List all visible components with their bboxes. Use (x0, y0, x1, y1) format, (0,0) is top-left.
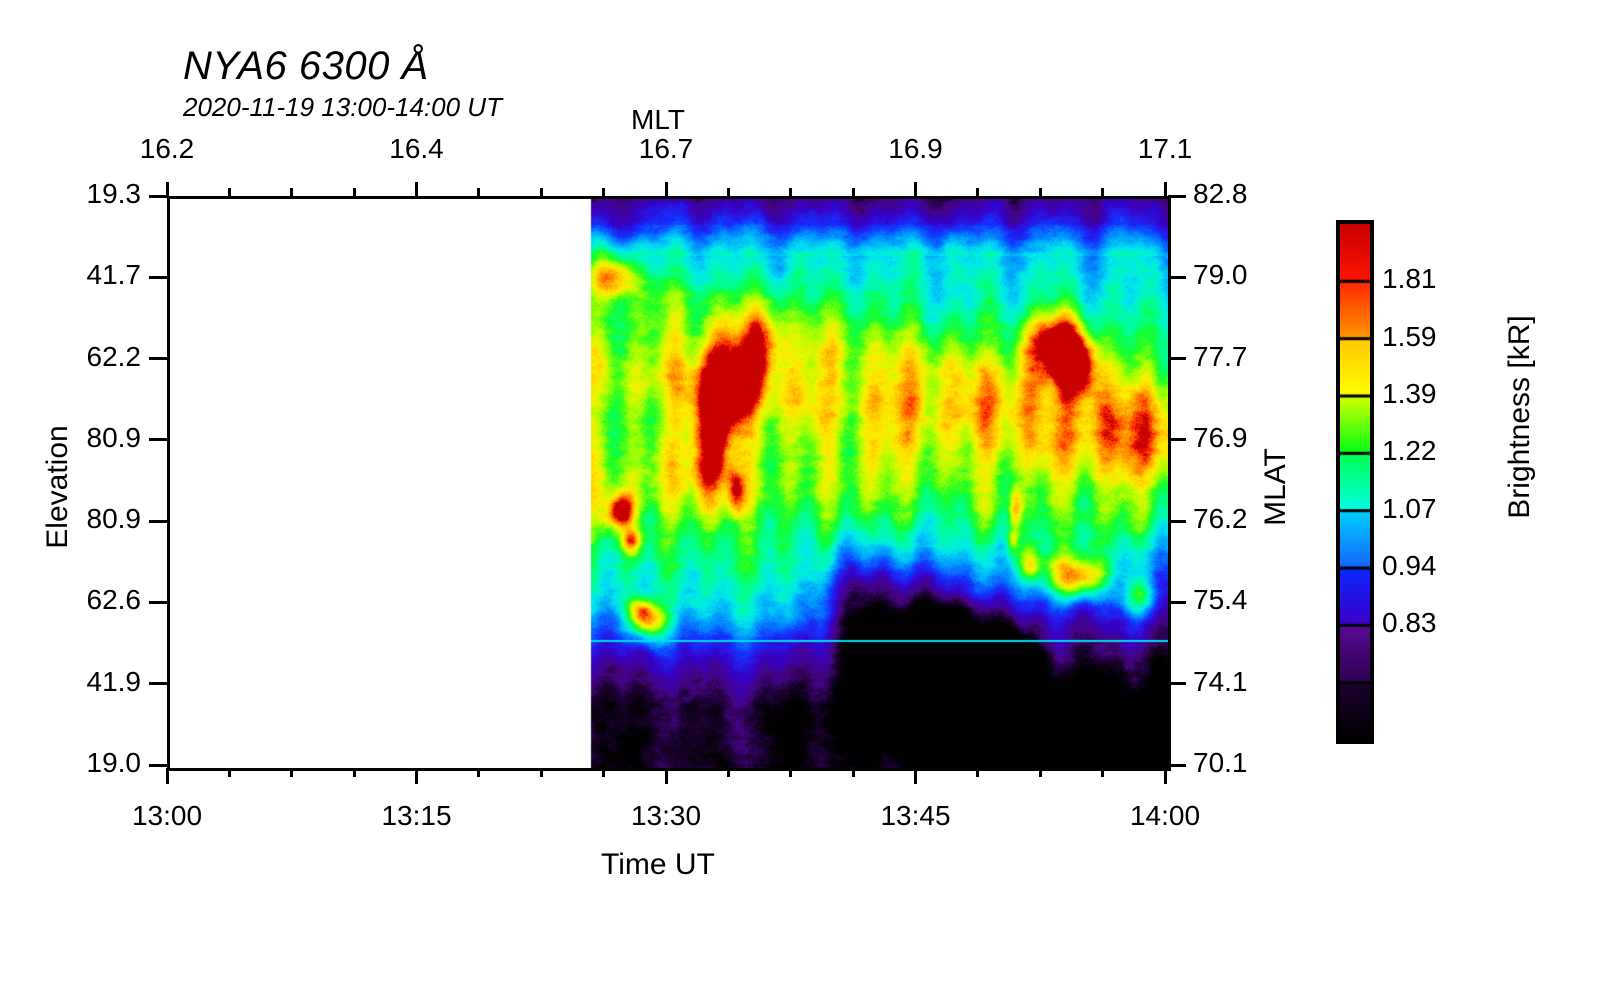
time-tick-label: 13:00 (97, 800, 237, 832)
keogram-image (170, 199, 1168, 768)
mlat-tick-mark (1168, 438, 1186, 441)
mlt-minor-tick (290, 188, 293, 196)
mlat-tick-mark (1168, 520, 1186, 523)
mlat-tick-label: 82.8 (1193, 178, 1293, 210)
mlt-minor-tick (540, 188, 543, 196)
elevation-tick-mark (149, 601, 167, 604)
time-axis-title: Time UT (601, 848, 715, 882)
mlat-tick-label: 79.0 (1193, 259, 1293, 291)
time-minor-tick (353, 768, 356, 777)
time-minor-tick (602, 768, 605, 777)
elevation-tick-label: 19.0 (65, 747, 141, 779)
mlat-tick-label: 75.4 (1193, 584, 1293, 616)
colorbar-tick-label: 1.22 (1382, 435, 1437, 467)
mlat-tick-mark (1168, 357, 1186, 360)
colorbar-gradient (1340, 224, 1370, 740)
time-tick-label: 13:30 (596, 800, 736, 832)
time-minor-tick (727, 768, 730, 777)
time-minor-tick (1101, 768, 1104, 777)
mlt-minor-tick (1039, 188, 1042, 196)
colorbar-tick-label: 0.94 (1382, 550, 1437, 582)
elevation-tick-label: 80.9 (65, 422, 141, 454)
elevation-tick-mark (149, 682, 167, 685)
time-minor-tick (976, 768, 979, 777)
mlat-tick-mark (1168, 682, 1186, 685)
time-minor-tick (540, 768, 543, 777)
keogram-plot-area[interactable] (167, 196, 1171, 771)
mlt-minor-tick (1101, 188, 1104, 196)
mlt-minor-tick (852, 188, 855, 196)
time-minor-tick (789, 768, 792, 777)
mlt-minor-tick (789, 188, 792, 196)
colorbar-tick-label: 1.39 (1382, 378, 1437, 410)
time-tick-label: 13:15 (347, 800, 487, 832)
colorbar-tick-label: 1.81 (1382, 263, 1437, 295)
mlat-tick-mark (1168, 276, 1186, 279)
mlt-minor-tick (353, 188, 356, 196)
time-tick-mark (166, 768, 169, 784)
mlt-minor-tick (477, 188, 480, 196)
mlat-tick-label: 77.7 (1193, 341, 1293, 373)
time-tick-label: 13:45 (846, 800, 986, 832)
mlat-tick-mark (1168, 764, 1186, 767)
elevation-tick-mark (149, 764, 167, 767)
time-minor-tick (1039, 768, 1042, 777)
elevation-tick-mark (149, 276, 167, 279)
page-subtitle: 2020-11-19 13:00-14:00 UT (183, 92, 502, 123)
page-title: NYA6 6300 Å (183, 44, 429, 89)
elevation-tick-mark (149, 520, 167, 523)
mlt-tick-label: 16.9 (876, 133, 956, 165)
mlt-axis-title: MLT (631, 104, 685, 136)
mlt-tick-mark (415, 182, 418, 196)
time-tick-mark (1164, 768, 1167, 784)
elevation-axis-title: Elevation (41, 407, 75, 567)
colorbar[interactable] (1336, 220, 1374, 744)
mlat-tick-mark (1168, 601, 1186, 604)
mlat-tick-label: 70.1 (1193, 747, 1293, 779)
elevation-tick-mark (149, 195, 167, 198)
colorbar-tick-label: 1.07 (1382, 493, 1437, 525)
time-tick-mark (415, 768, 418, 784)
elevation-tick-label: 62.6 (65, 584, 141, 616)
elevation-tick-label: 41.7 (65, 259, 141, 291)
mlt-tick-label: 17.1 (1125, 133, 1205, 165)
time-minor-tick (228, 768, 231, 777)
time-tick-mark (665, 768, 668, 784)
mlat-axis-title: MLAT (1259, 407, 1293, 567)
mlt-tick-mark (914, 182, 917, 196)
time-minor-tick (477, 768, 480, 777)
mlt-tick-mark (665, 182, 668, 196)
time-tick-mark (914, 768, 917, 784)
mlt-tick-label: 16.7 (626, 133, 706, 165)
elevation-tick-mark (149, 438, 167, 441)
elevation-tick-label: 41.9 (65, 666, 141, 698)
mlt-minor-tick (602, 188, 605, 196)
time-minor-tick (290, 768, 293, 777)
mlat-tick-mark (1168, 195, 1186, 198)
colorbar-tick-label: 0.83 (1382, 607, 1437, 639)
elevation-tick-label: 62.2 (65, 341, 141, 373)
elevation-tick-label: 19.3 (65, 178, 141, 210)
mlt-minor-tick (228, 188, 231, 196)
mlt-tick-label: 16.4 (377, 133, 457, 165)
mlt-tick-mark (1164, 182, 1167, 196)
colorbar-title: Brightness [kR] (1503, 297, 1537, 537)
elevation-tick-label: 80.9 (65, 503, 141, 535)
time-tick-label: 14:00 (1095, 800, 1235, 832)
mlat-tick-label: 74.1 (1193, 666, 1293, 698)
mlt-minor-tick (976, 188, 979, 196)
elevation-tick-mark (149, 357, 167, 360)
mlt-tick-label: 16.2 (127, 133, 207, 165)
colorbar-tick-label: 1.59 (1382, 321, 1437, 353)
mlt-minor-tick (727, 188, 730, 196)
time-minor-tick (852, 768, 855, 777)
